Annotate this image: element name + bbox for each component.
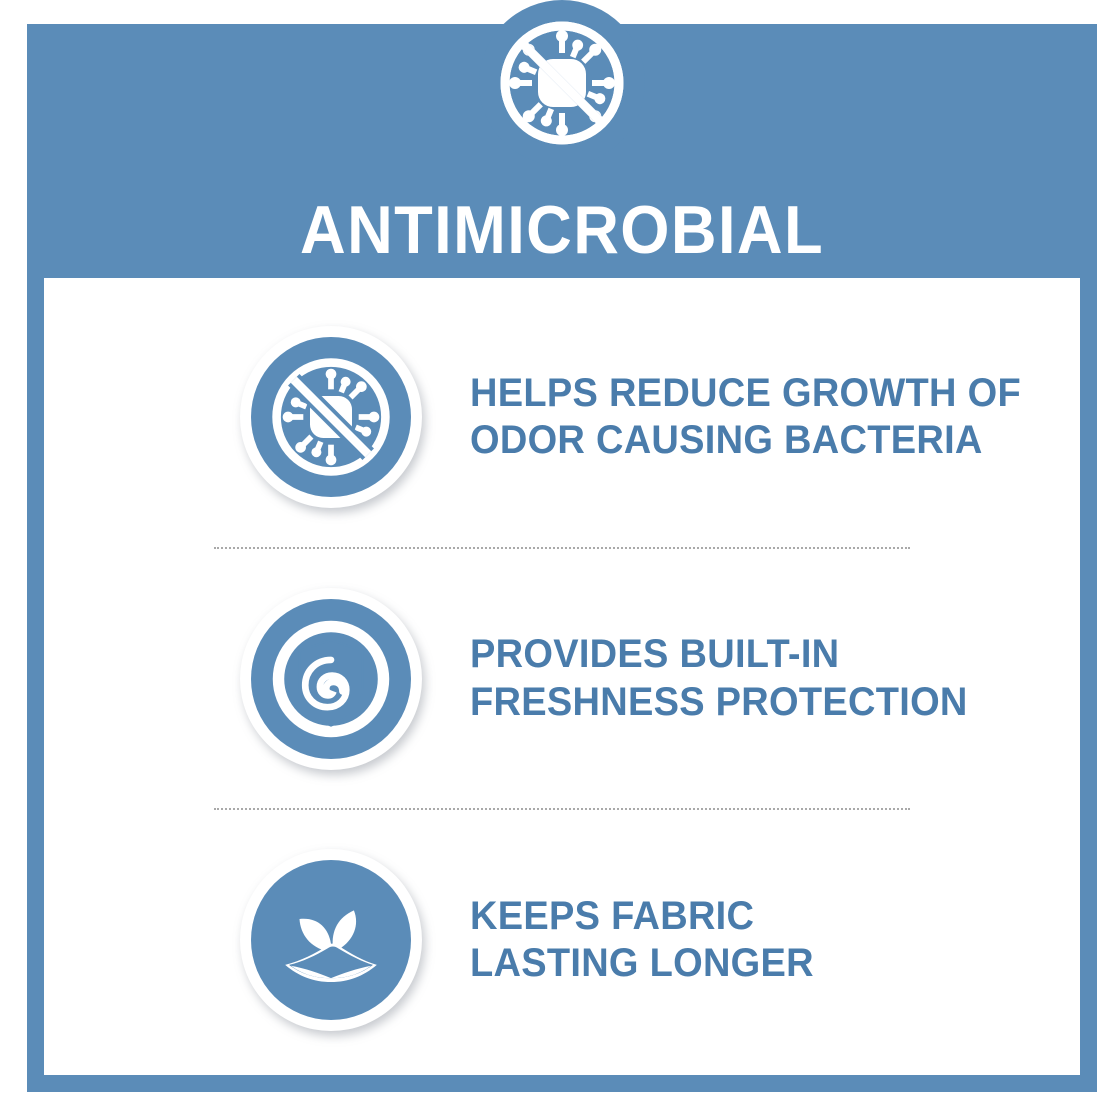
antimicrobial-infographic: ANTIMICROBIAL <box>0 0 1120 1120</box>
features-panel: HELPS REDUCE GROWTH OF ODOR CAUSING BACT… <box>44 278 1080 1075</box>
feature-line-2: ODOR CAUSING BACTERIA <box>470 417 1021 464</box>
feature-line-2: FRESHNESS PROTECTION <box>470 679 968 726</box>
feature-text: PROVIDES BUILT-IN FRESHNESS PROTECTION <box>470 631 968 725</box>
badge-shield <box>240 588 422 770</box>
no-germ-icon <box>479 0 645 166</box>
feature-text: KEEPS FABRIC LASTING LONGER <box>470 893 814 987</box>
divider <box>214 547 910 549</box>
leaf-fabric-icon <box>268 877 394 1003</box>
infographic-card: ANTIMICROBIAL <box>27 24 1097 1092</box>
feature-line-1: PROVIDES BUILT-IN <box>470 631 968 678</box>
list-item: HELPS REDUCE GROWTH OF ODOR CAUSING BACT… <box>44 306 1080 528</box>
list-item: PROVIDES BUILT-IN FRESHNESS PROTECTION <box>44 568 1080 790</box>
page-title: ANTIMICROBIAL <box>64 196 1059 264</box>
no-germ-icon <box>268 354 394 480</box>
shield-swirl-icon <box>268 616 394 742</box>
features-list: HELPS REDUCE GROWTH OF ODOR CAUSING BACT… <box>44 278 1080 1075</box>
feature-line-2: LASTING LONGER <box>470 940 814 987</box>
feature-line-1: KEEPS FABRIC <box>470 893 814 940</box>
badge-no-germ <box>240 326 422 508</box>
divider <box>214 808 910 810</box>
feature-text: HELPS REDUCE GROWTH OF ODOR CAUSING BACT… <box>470 370 1021 464</box>
header-section: ANTIMICROBIAL <box>27 24 1097 278</box>
feature-line-1: HELPS REDUCE GROWTH OF <box>470 370 1021 417</box>
badge-leaf <box>240 849 422 1031</box>
list-item: KEEPS FABRIC LASTING LONGER <box>44 829 1080 1051</box>
